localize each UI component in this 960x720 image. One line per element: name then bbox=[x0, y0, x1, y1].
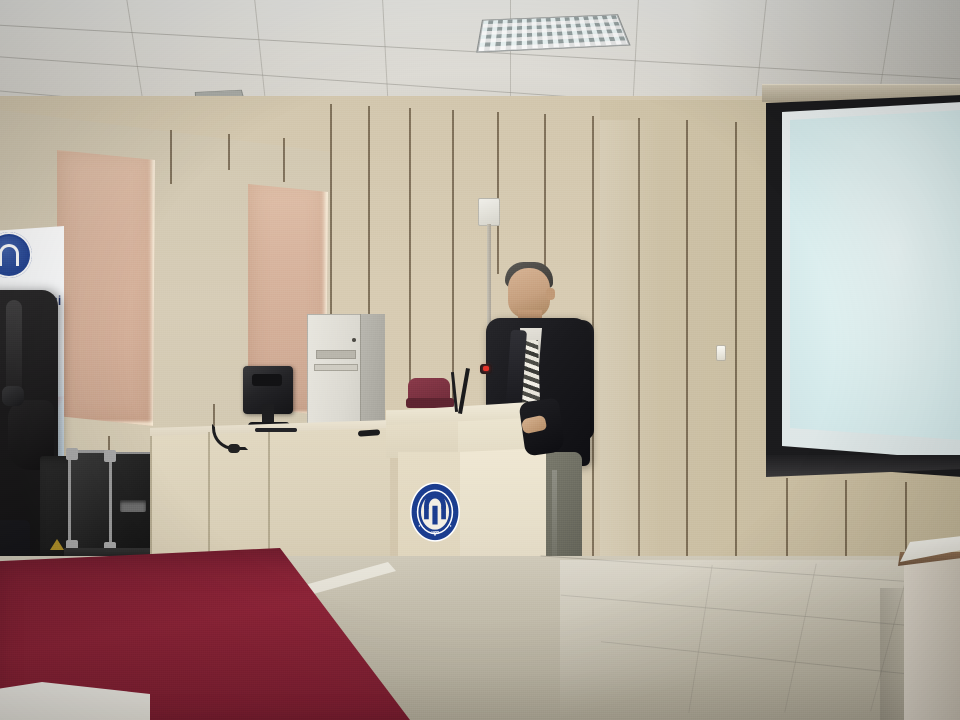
wall-panel-seam bbox=[497, 112, 499, 274]
monitor-vent bbox=[252, 374, 282, 386]
computer-drive-bay bbox=[316, 350, 356, 359]
foreground-table-body bbox=[904, 560, 960, 720]
computer-cabinet-side bbox=[360, 314, 385, 438]
wall-panel-seam bbox=[544, 114, 546, 280]
ktu-emblem-icon: 1955 bbox=[409, 481, 461, 543]
wall-sheen bbox=[600, 120, 660, 570]
photo-scene: VERSİTESİ OFİSİ bbox=[0, 0, 960, 720]
desk-keyboard-cable bbox=[255, 428, 297, 432]
flight-case-corner bbox=[66, 448, 78, 460]
svg-text:1955: 1955 bbox=[431, 530, 439, 534]
wall-panel-seam bbox=[283, 138, 285, 182]
presenter-ear bbox=[546, 288, 555, 300]
wall-panel-seam bbox=[409, 108, 411, 404]
wall-mounted-box-icon bbox=[478, 198, 500, 226]
attendee-left-hand bbox=[2, 386, 24, 406]
computer-drive-bay bbox=[314, 364, 358, 371]
wall-panel-seam bbox=[735, 122, 737, 574]
wall-panel-seam bbox=[686, 120, 688, 570]
power-led-icon bbox=[352, 338, 356, 342]
wall-panel-seam bbox=[228, 134, 230, 170]
flight-case-handle[interactable] bbox=[120, 500, 146, 512]
flight-case-corner bbox=[104, 450, 116, 462]
wall-switch-plate-icon[interactable] bbox=[716, 345, 726, 361]
wall-panel-seam bbox=[170, 130, 172, 184]
projection-screen-image[interactable] bbox=[790, 110, 960, 440]
chair-edge bbox=[406, 398, 454, 408]
microphone-led-icon bbox=[483, 366, 489, 371]
desk-cable-connector bbox=[228, 444, 240, 453]
wall-panel-seam bbox=[452, 110, 454, 402]
window-blind-left bbox=[57, 148, 155, 426]
